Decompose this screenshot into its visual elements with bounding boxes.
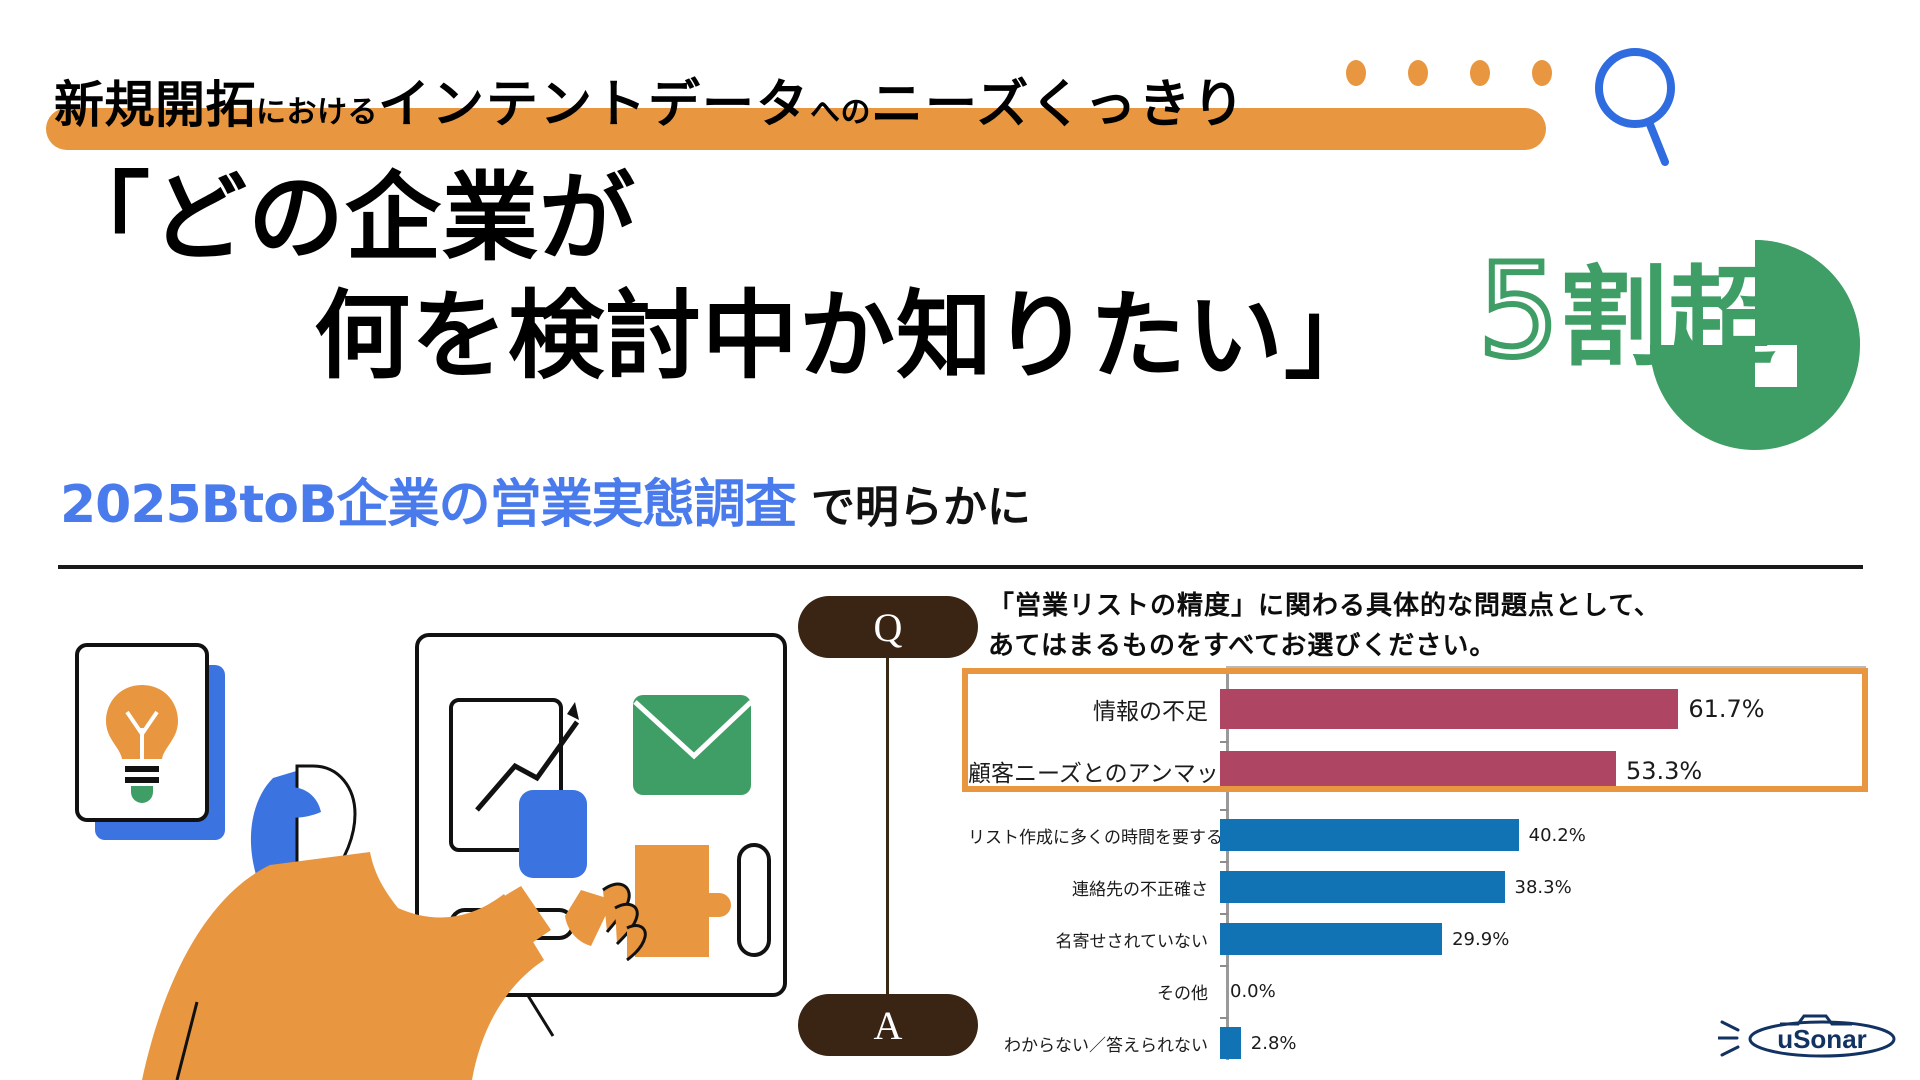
chart-value-label: 2.8% xyxy=(1251,1033,1297,1054)
chart-category-label: わからない／答えられない xyxy=(968,1031,1220,1056)
chart-value-label: 29.9% xyxy=(1452,929,1509,950)
chart-bar xyxy=(1220,871,1505,903)
chart-bar-wrap: 40.2% xyxy=(1220,812,1868,858)
chart-row: 顧客ニーズとのアンマッチ53.3% xyxy=(968,744,1868,798)
chart-bar xyxy=(1220,819,1519,851)
usonar-submarine-logo: uSonar xyxy=(1718,1008,1898,1070)
kicker-text: 新規開拓におけるインテントデータへのニーズくっきり xyxy=(54,62,1246,137)
kicker-part4: への xyxy=(810,95,871,130)
question-badge: Q xyxy=(798,596,978,658)
chart-value-label: 38.3% xyxy=(1515,877,1572,898)
chart-bar xyxy=(1220,751,1616,791)
headline: 「どの企業が 何を検討中か知りたい」 xyxy=(46,160,1546,450)
person-pointing-at-dashboard-illustration xyxy=(55,590,795,1080)
chart-top-gridline xyxy=(1226,666,1866,671)
chart-category-label: 顧客ニーズとのアンマッチ xyxy=(968,754,1220,788)
chart-row: 連絡先の不正確さ38.3% xyxy=(968,864,1868,910)
qa-connector: Q A xyxy=(798,596,978,1056)
stat-callout: 5割超 xyxy=(1478,248,1775,376)
chart-bar-wrap: 53.3% xyxy=(1220,744,1868,798)
chart-row: 情報の不足61.7% xyxy=(968,682,1868,736)
chart-bar xyxy=(1220,689,1678,729)
subhead-survey-name: BtoB企業の営業実態調査 xyxy=(201,475,796,535)
chart-value-label: 53.3% xyxy=(1626,757,1702,785)
magnifier-icon xyxy=(1591,42,1681,172)
chart-category-label: 情報の不足 xyxy=(968,692,1220,726)
kicker-part5: ニーズくっきり xyxy=(871,75,1246,135)
logo-wordmark: uSonar xyxy=(1777,1024,1867,1054)
headline-line-1: 「どの企業が xyxy=(54,160,636,277)
infographic-canvas: 新規開拓におけるインテントデータへのニーズくっきり 「どの企業が 何を検討中か知… xyxy=(0,0,1920,1080)
stat-suffix: 割超 xyxy=(1559,256,1775,381)
answer-badge: A xyxy=(798,994,978,1056)
section-divider xyxy=(58,565,1863,569)
kicker-part1: 新規開拓 xyxy=(54,76,256,134)
chart-bar-wrap: 29.9% xyxy=(1220,916,1868,962)
chart-category-label: リスト作成に多くの時間を要する xyxy=(968,823,1220,848)
kicker-part3: インテントデータ xyxy=(378,75,810,135)
chart-bar xyxy=(1220,923,1442,955)
chart-row: リスト作成に多くの時間を要する40.2% xyxy=(968,812,1868,858)
qa-connector-line xyxy=(886,656,889,996)
chart-bar-wrap: 38.3% xyxy=(1220,864,1868,910)
headline-line-2: 何を検討中か知りたい」 xyxy=(314,278,1381,395)
chart-value-label: 0.0% xyxy=(1230,981,1276,1002)
kicker-emphasis-dots xyxy=(1346,60,1546,86)
kicker-banner: 新規開拓におけるインテントデータへのニーズくっきり xyxy=(46,30,1606,140)
question-line-1: 「営業リストの精度」に関わる具体的な問題点として、 xyxy=(988,586,1848,626)
subhead-tail: で明らかに xyxy=(796,482,1031,533)
question-text: 「営業リストの精度」に関わる具体的な問題点として、 あてはまるものをすべてお選び… xyxy=(988,586,1848,667)
subhead: 2025BtoB企業の営業実態調査 で明らかに xyxy=(60,462,1031,537)
chart-value-label: 40.2% xyxy=(1529,825,1586,846)
question-line-2: あてはまるものをすべてお選びください。 xyxy=(988,626,1848,666)
chart-value-label: 61.7% xyxy=(1688,695,1764,723)
chart-bar xyxy=(1220,1027,1241,1059)
chart-bar-wrap: 61.7% xyxy=(1220,682,1868,736)
subhead-year: 2025 xyxy=(60,475,201,535)
chart-category-label: その他 xyxy=(968,979,1220,1004)
stat-number: 5 xyxy=(1478,237,1559,386)
chart-row: 名寄せされていない29.9% xyxy=(968,916,1868,962)
chart-category-label: 連絡先の不正確さ xyxy=(968,875,1220,900)
kicker-part2: における xyxy=(256,95,378,130)
chart-category-label: 名寄せされていない xyxy=(968,927,1220,952)
